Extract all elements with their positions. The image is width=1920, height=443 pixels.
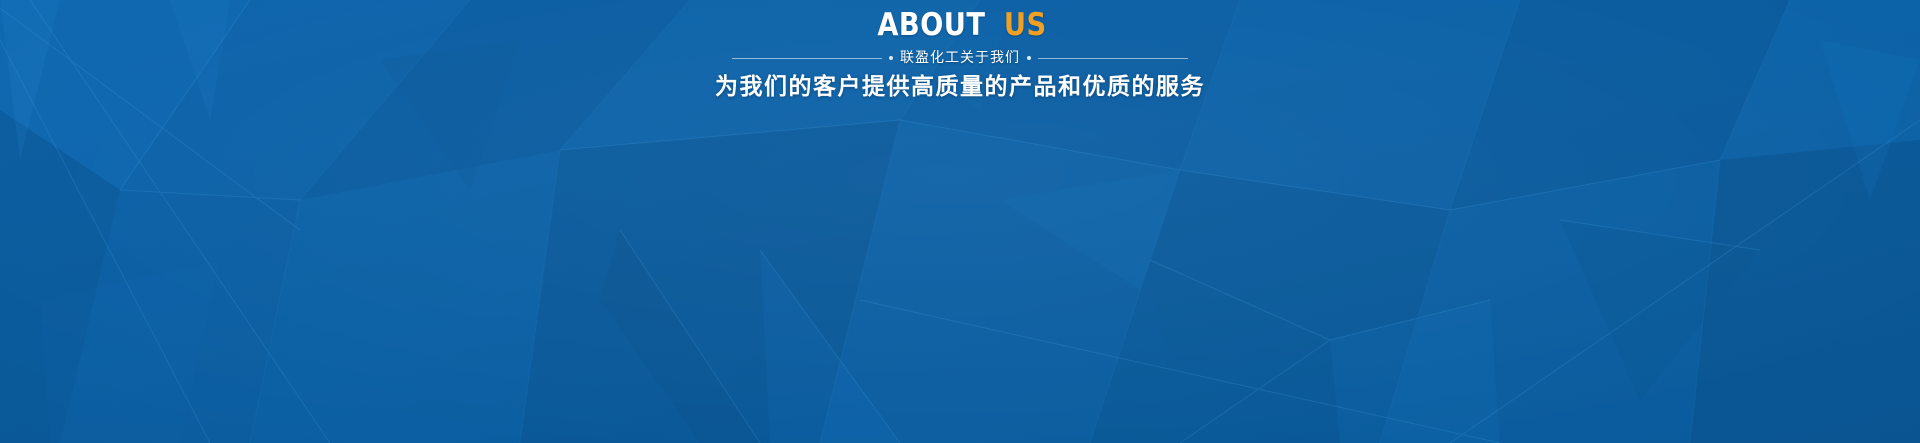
- rule-right-dot: [1027, 56, 1031, 60]
- banner-subtitle-row: 联盈化工关于我们: [732, 51, 1188, 65]
- banner-content: ABOUT US 联盈化工关于我们 为我们的客户提供高质量的产品和优质的服务: [0, 0, 1920, 443]
- banner-title-main: ABOUT: [878, 10, 986, 41]
- banner-subtitle: 联盈化工关于我们: [900, 51, 1020, 65]
- banner-title-accent: US: [1004, 10, 1047, 41]
- rule-left-dot: [889, 56, 893, 60]
- about-us-banner: ABOUT US 联盈化工关于我们 为我们的客户提供高质量的产品和优质的服务: [0, 0, 1920, 443]
- rule-right-line: [1038, 58, 1188, 59]
- rule-left-line: [732, 58, 882, 59]
- banner-title: ABOUT US: [870, 10, 1049, 41]
- banner-tagline: 为我们的客户提供高质量的产品和优质的服务: [715, 74, 1205, 100]
